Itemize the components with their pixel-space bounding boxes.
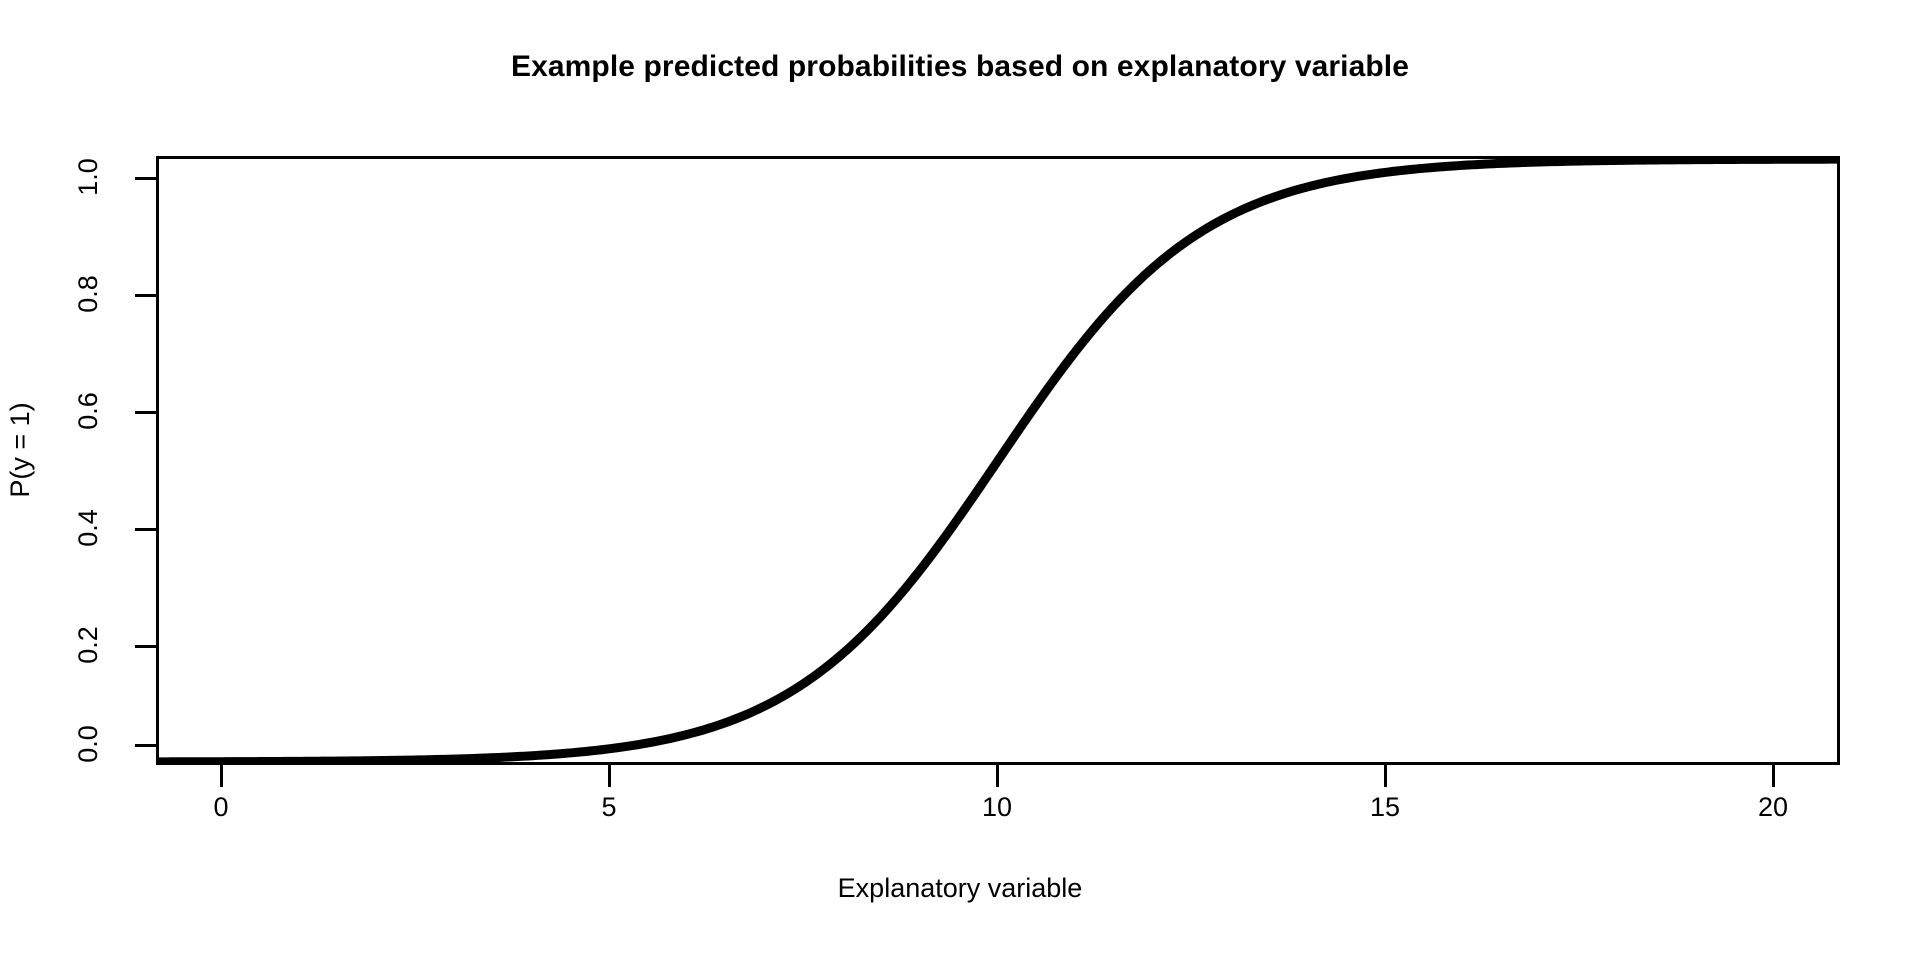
x-tick-mark — [608, 765, 611, 787]
y-tick-label-text: 1.0 — [73, 158, 103, 196]
x-tick-label-text: 15 — [1370, 790, 1400, 824]
plot-area — [156, 156, 1840, 765]
y-tick-label-text: 0.0 — [73, 725, 103, 763]
y-tick-label-text: 0.6 — [73, 392, 103, 430]
x-tick-label-text: 10 — [982, 790, 1012, 824]
y-tick-label: 0.8 — [58, 264, 118, 324]
x-tick-label: 0 — [161, 790, 281, 830]
x-tick-label: 15 — [1325, 790, 1445, 830]
x-axis-title: Explanatory variable — [0, 872, 1920, 904]
x-tick-mark — [996, 765, 999, 787]
y-axis-title: P(y = 1) — [0, 430, 100, 470]
y-tick-mark — [135, 411, 156, 414]
logistic-curve-svg — [159, 159, 1837, 762]
y-tick-label: 0.0 — [58, 714, 118, 774]
plot-canvas: Example predicted probabilities based on… — [0, 0, 1920, 960]
y-tick-label-text: 0.2 — [73, 626, 103, 664]
y-tick-mark — [135, 177, 156, 180]
x-tick-mark — [1384, 765, 1387, 787]
y-tick-label-text: 0.4 — [73, 509, 103, 547]
page-title: Example predicted probabilities based on… — [0, 50, 1920, 84]
y-tick-label: 1.0 — [58, 147, 118, 207]
x-tick-label: 20 — [1713, 790, 1833, 830]
x-tick-label: 5 — [549, 790, 669, 830]
y-tick-label: 0.2 — [58, 615, 118, 675]
y-tick-label: 0.4 — [58, 498, 118, 558]
x-tick-label-text: 20 — [1758, 790, 1788, 824]
x-tick-label-text: 5 — [601, 790, 616, 824]
y-tick-mark — [135, 294, 156, 297]
y-tick-mark — [135, 744, 156, 747]
y-tick-label-text: 0.8 — [73, 275, 103, 313]
x-tick-label-text: 0 — [213, 790, 228, 824]
y-tick-mark — [135, 645, 156, 648]
logistic-curve-line — [159, 159, 1837, 762]
y-axis-title-text: P(y = 1) — [4, 402, 36, 497]
y-tick-mark — [135, 528, 156, 531]
x-tick-mark — [220, 765, 223, 787]
x-tick-label: 10 — [937, 790, 1057, 830]
x-tick-mark — [1772, 765, 1775, 787]
